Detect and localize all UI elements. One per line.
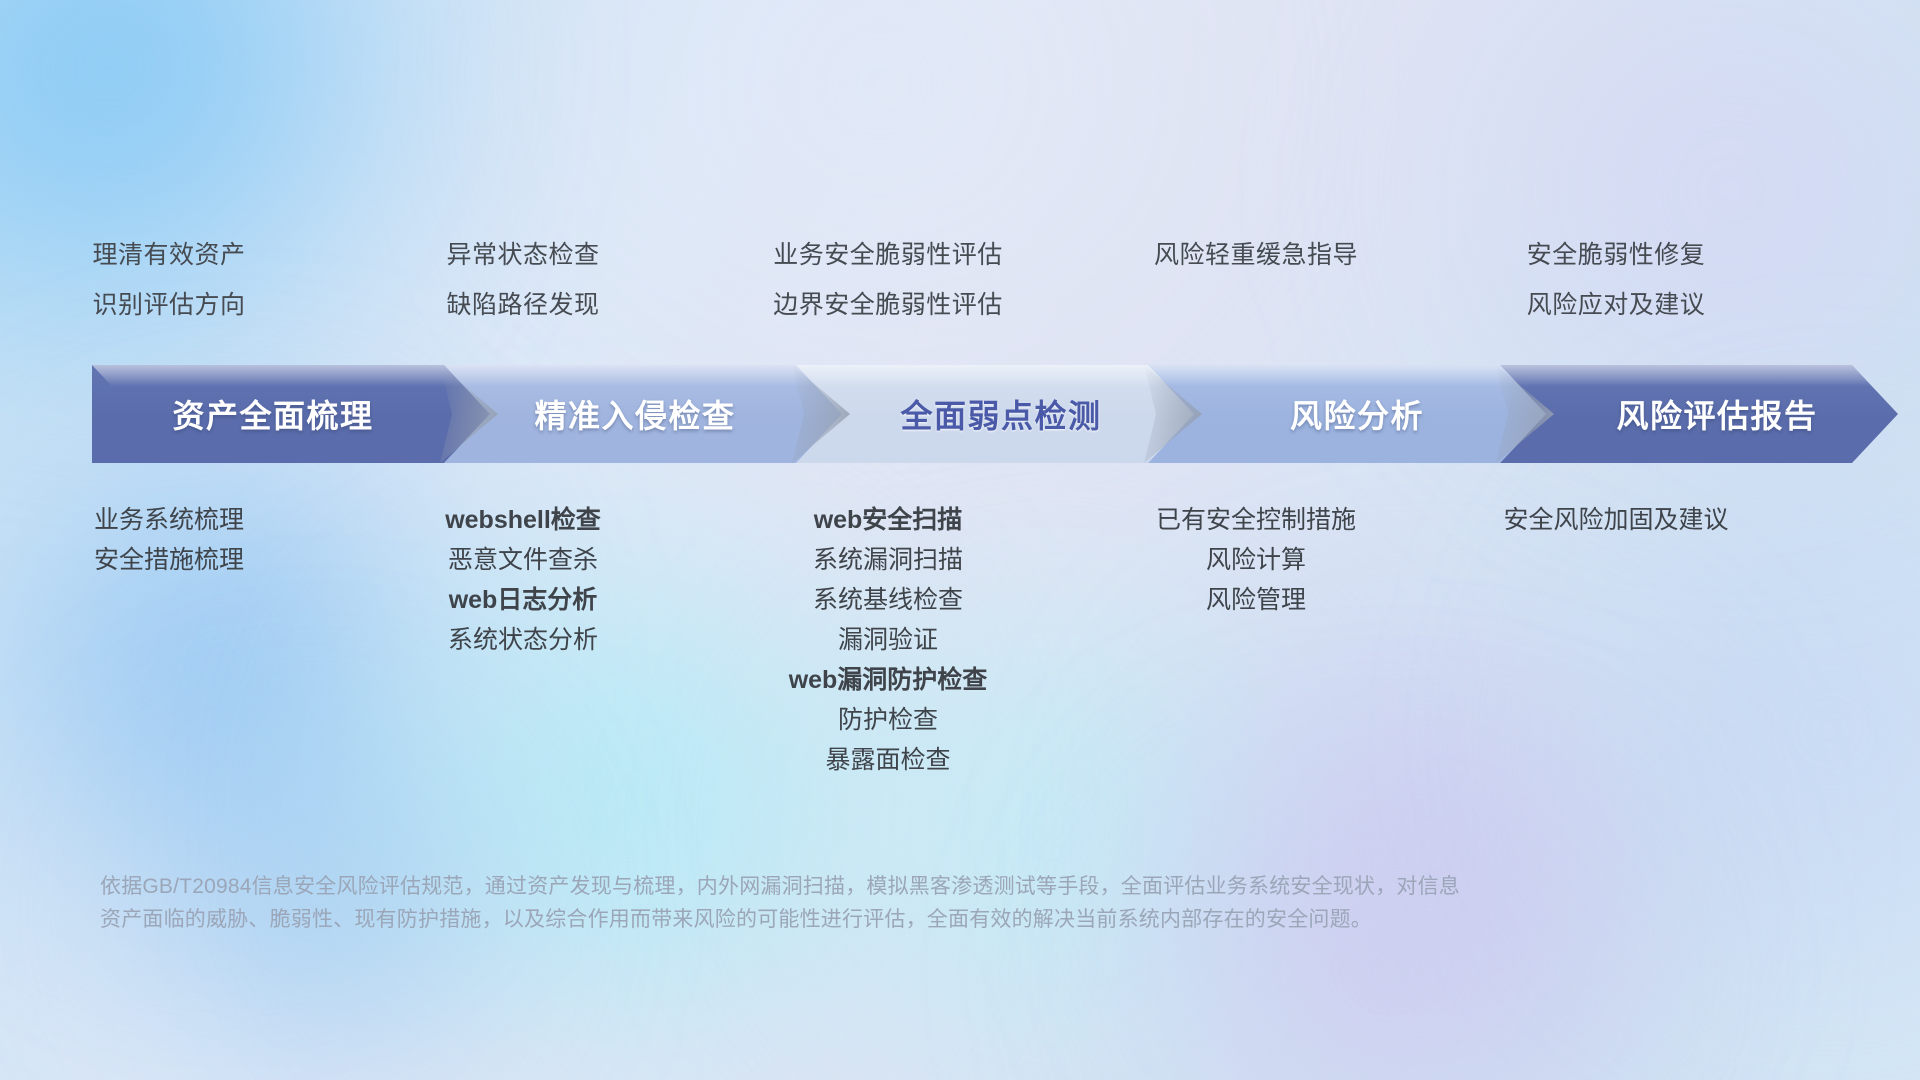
top-label-column-4: 风险轻重缓急指导 [1080, 230, 1432, 330]
detail-list-item: web安全扫描 [814, 500, 963, 540]
top-label: 安全脆弱性修复 [1527, 230, 1706, 280]
detail-list-item: 安全风险加固及建议 [1503, 500, 1728, 540]
process-chevron-strip: 资产全面梳理精准入侵检查全面弱点检测风险分析风险评估报告 [92, 365, 1852, 463]
top-label: 边界安全脆弱性评估 [773, 280, 1003, 330]
top-label: 理清有效资产 [92, 230, 245, 280]
footer-line-1: 依据GB/T20984信息安全风险评估规范，通过资产发现与梳理，内外网漏洞扫描，… [100, 870, 1720, 903]
detail-list-item: 系统漏洞扫描 [813, 540, 963, 580]
top-label: 识别评估方向 [92, 280, 245, 330]
detail-list-column-2: webshell检查恶意文件查杀web日志分析系统状态分析 [347, 500, 699, 780]
top-label-column-2: 异常状态检查缺陷路径发现 [347, 230, 699, 330]
detail-list-item: 安全措施梳理 [94, 540, 244, 580]
process-step-title: 风险评估报告 [1616, 391, 1817, 437]
footer-description: 依据GB/T20984信息安全风险评估规范，通过资产发现与梳理，内外网漏洞扫描，… [100, 870, 1720, 936]
process-step-title: 风险分析 [1290, 391, 1424, 437]
process-step-4[interactable]: 风险分析 [1148, 365, 1546, 463]
process-step-title: 资产全面梳理 [172, 391, 373, 437]
detail-list-item: 防护检查 [838, 700, 938, 740]
detail-list-item: web漏洞防护检查 [789, 660, 988, 700]
detail-list-item: 风险计算 [1206, 540, 1306, 580]
detail-list-column-1: 业务系统梳理安全措施梳理 [0, 500, 345, 780]
detail-list-item: 恶意文件查杀 [448, 540, 598, 580]
top-label-column-5: 安全脆弱性修复风险应对及建议 [1440, 230, 1792, 330]
top-label-column-3: 业务安全脆弱性评估边界安全脆弱性评估 [712, 230, 1064, 330]
top-label: 风险应对及建议 [1527, 280, 1706, 330]
detail-list-item: 已有安全控制措施 [1156, 500, 1356, 540]
detail-list-item: web日志分析 [449, 580, 598, 620]
detail-list-column-5: 安全风险加固及建议 [1440, 500, 1792, 780]
top-label: 风险轻重缓急指导 [1154, 230, 1358, 280]
process-step-1[interactable]: 资产全面梳理 [92, 365, 490, 463]
detail-list-item: 暴露面检查 [825, 740, 950, 780]
footer-line-2: 资产面临的威胁、脆弱性、现有防护措施，以及综合作用而带来风险的可能性进行评估，全… [100, 903, 1720, 936]
top-labels-band: 理清有效资产识别评估方向异常状态检查缺陷路径发现业务安全脆弱性评估边界安全脆弱性… [0, 230, 1920, 330]
detail-list-item: 业务系统梳理 [94, 500, 244, 540]
top-label: 异常状态检查 [446, 230, 599, 280]
top-label-column-1: 理清有效资产识别评估方向 [0, 230, 345, 330]
detail-list-item: 漏洞验证 [838, 620, 938, 660]
process-step-title: 全面弱点检测 [900, 391, 1101, 437]
process-step-2[interactable]: 精准入侵检查 [444, 365, 842, 463]
detail-list-item: 系统基线检查 [813, 580, 963, 620]
detail-list-item: 风险管理 [1206, 580, 1306, 620]
detail-list-column-4: 已有安全控制措施风险计算风险管理 [1080, 500, 1432, 780]
detail-list-item: 系统状态分析 [448, 620, 598, 660]
process-step-3[interactable]: 全面弱点检测 [796, 365, 1194, 463]
process-step-5[interactable]: 风险评估报告 [1500, 365, 1898, 463]
detail-list-column-3: web安全扫描系统漏洞扫描系统基线检查漏洞验证web漏洞防护检查防护检查暴露面检… [712, 500, 1064, 780]
bottom-details-band: 业务系统梳理安全措施梳理webshell检查恶意文件查杀web日志分析系统状态分… [0, 500, 1920, 780]
process-step-title: 精准入侵检查 [534, 391, 735, 437]
top-label: 缺陷路径发现 [446, 280, 599, 330]
detail-list-item: webshell检查 [445, 500, 601, 540]
top-label: 业务安全脆弱性评估 [773, 230, 1003, 280]
